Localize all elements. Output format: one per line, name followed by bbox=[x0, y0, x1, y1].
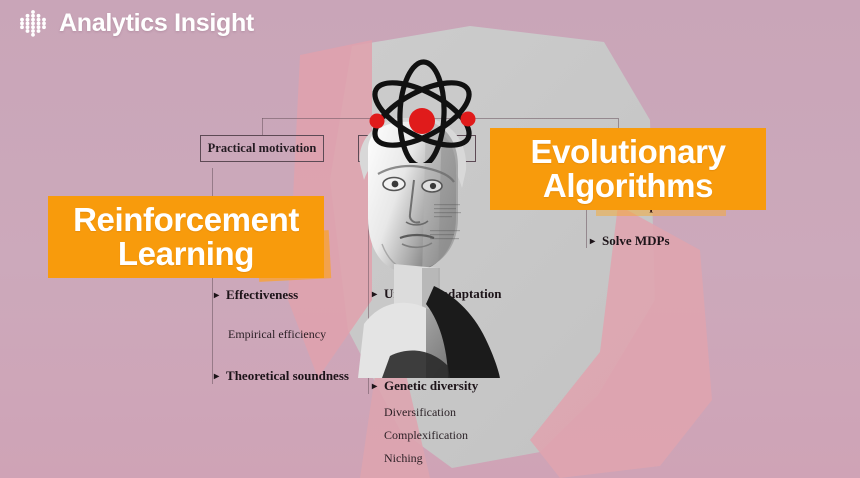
callout-line-1: Evolutionary bbox=[530, 133, 725, 170]
brand-name: Analytics Insight bbox=[59, 9, 254, 38]
atom-nucleus bbox=[409, 108, 435, 134]
callout-text: Evolutionary Algorithms bbox=[530, 135, 725, 204]
branch-item-label: Effectiveness bbox=[226, 287, 298, 303]
branch-item-genetic-diversity: ▸ Genetic diversity bbox=[372, 378, 478, 394]
callout-evolutionary-algorithms: Evolutionary Algorithms bbox=[490, 128, 766, 210]
atom-icon bbox=[352, 58, 492, 163]
branch-item-theoretical-soundness: ▸ Theoretical soundness bbox=[214, 368, 349, 384]
connector-center-spine bbox=[368, 168, 369, 394]
brand-logo[interactable]: Analytics Insight bbox=[18, 8, 254, 38]
branch-item-complexification: Complexification bbox=[384, 428, 468, 443]
bullet-dot-icon: ▸ bbox=[372, 290, 377, 300]
bullet-dot-icon: ▸ bbox=[372, 382, 377, 392]
branch-item-unknown-adaptation: ▸ Unknown adaptation bbox=[372, 286, 501, 302]
bullet-dot-icon: ▸ bbox=[214, 291, 219, 301]
branch-item-label: Genetic diversity bbox=[384, 378, 478, 394]
connector-v-left bbox=[262, 118, 263, 136]
branch-item-diversification: Diversification bbox=[384, 405, 456, 420]
branch-item-label: Theoretical soundness bbox=[226, 368, 349, 384]
branch-item-label: Diversification bbox=[384, 405, 456, 420]
dot-matrix-diamond-icon bbox=[18, 8, 48, 38]
branch-item-label: Solve MDPs bbox=[602, 233, 670, 249]
callout-text: Reinforcement Learning bbox=[73, 203, 299, 272]
branch-item-empirical-efficiency: Empirical efficiency bbox=[228, 327, 326, 342]
atom-electron-right bbox=[461, 112, 476, 127]
node-practical-motivation: Practical motivation bbox=[200, 135, 324, 162]
callout-line-1: Reinforcement bbox=[73, 201, 299, 238]
branch-item-label: Genetic linkage bbox=[384, 341, 460, 356]
branch-item-label: Unknown adaptation bbox=[384, 286, 501, 302]
branch-item-genetic-linkage: Genetic linkage bbox=[384, 341, 460, 356]
callout-line-2: Learning bbox=[118, 235, 254, 272]
branch-item-label: Empirical efficiency bbox=[228, 327, 326, 342]
screenshot-canvas: Practical motivation Natural intuition A… bbox=[0, 0, 860, 478]
callout-line-2: Algorithms bbox=[543, 167, 713, 204]
callout-reinforcement-learning: Reinforcement Learning bbox=[48, 196, 324, 278]
branch-item-niching: Niching bbox=[384, 451, 423, 466]
branch-item-label: Complexification bbox=[384, 428, 468, 443]
node-label: Practical motivation bbox=[208, 141, 317, 156]
branch-item-solve-mdps: ▸ Solve MDPs bbox=[590, 233, 670, 249]
atom-electron-left bbox=[370, 114, 385, 129]
branch-item-label: Niching bbox=[384, 451, 423, 466]
bullet-dot-icon: ▸ bbox=[214, 372, 219, 382]
branch-item-effectiveness: ▸ Effectiveness bbox=[214, 287, 298, 303]
bullet-dot-icon: ▸ bbox=[590, 237, 595, 247]
